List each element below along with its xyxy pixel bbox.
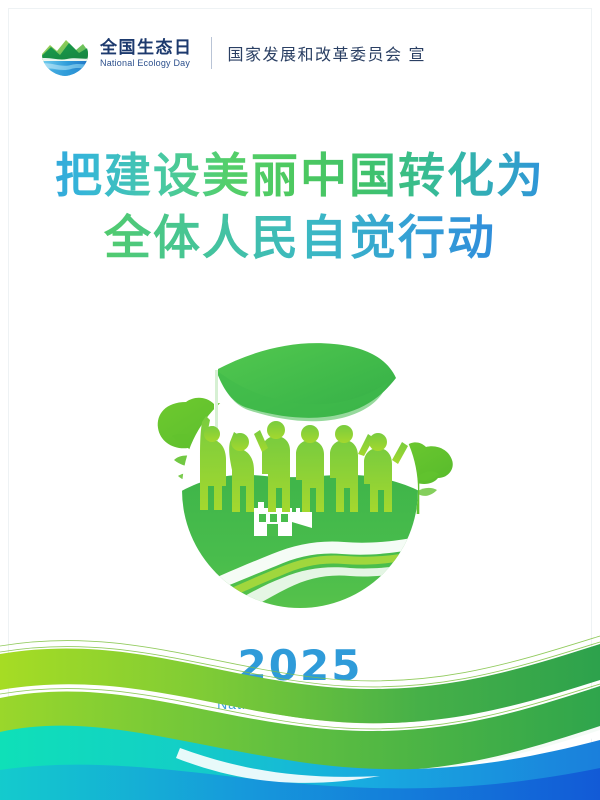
issuing-organization: 国家发展和改革委员会 宣	[228, 41, 426, 65]
national-ecology-day-emblem-icon	[40, 28, 90, 78]
logo-title-en: National Ecology Day	[100, 59, 193, 68]
header-divider	[211, 37, 212, 69]
year-label: 2025	[0, 645, 600, 687]
headline-block: 把建设美丽中国转化为 全体人民自觉行动	[0, 146, 600, 270]
logo-wordmark: 全国生态日 National Ecology Day	[100, 39, 193, 68]
wave-cyan	[0, 726, 600, 800]
logo-title-cn: 全国生态日	[100, 39, 193, 56]
headline-line-2: 全体人民自觉行动	[0, 208, 600, 270]
header: 全国生态日 National Ecology Day 国家发展和改革委员会 宣	[40, 28, 426, 78]
headline-line-1: 把建设美丽中国转化为	[0, 146, 600, 208]
wave-highlight	[176, 748, 380, 783]
green-globe-illustration	[130, 330, 470, 620]
wave-blue	[0, 765, 600, 800]
wave-white-gap	[0, 726, 600, 781]
tagline-label: National Ecology Day	[0, 696, 600, 712]
poster-canvas: 全国生态日 National Ecology Day 国家发展和改革委员会 宣 …	[0, 0, 600, 800]
